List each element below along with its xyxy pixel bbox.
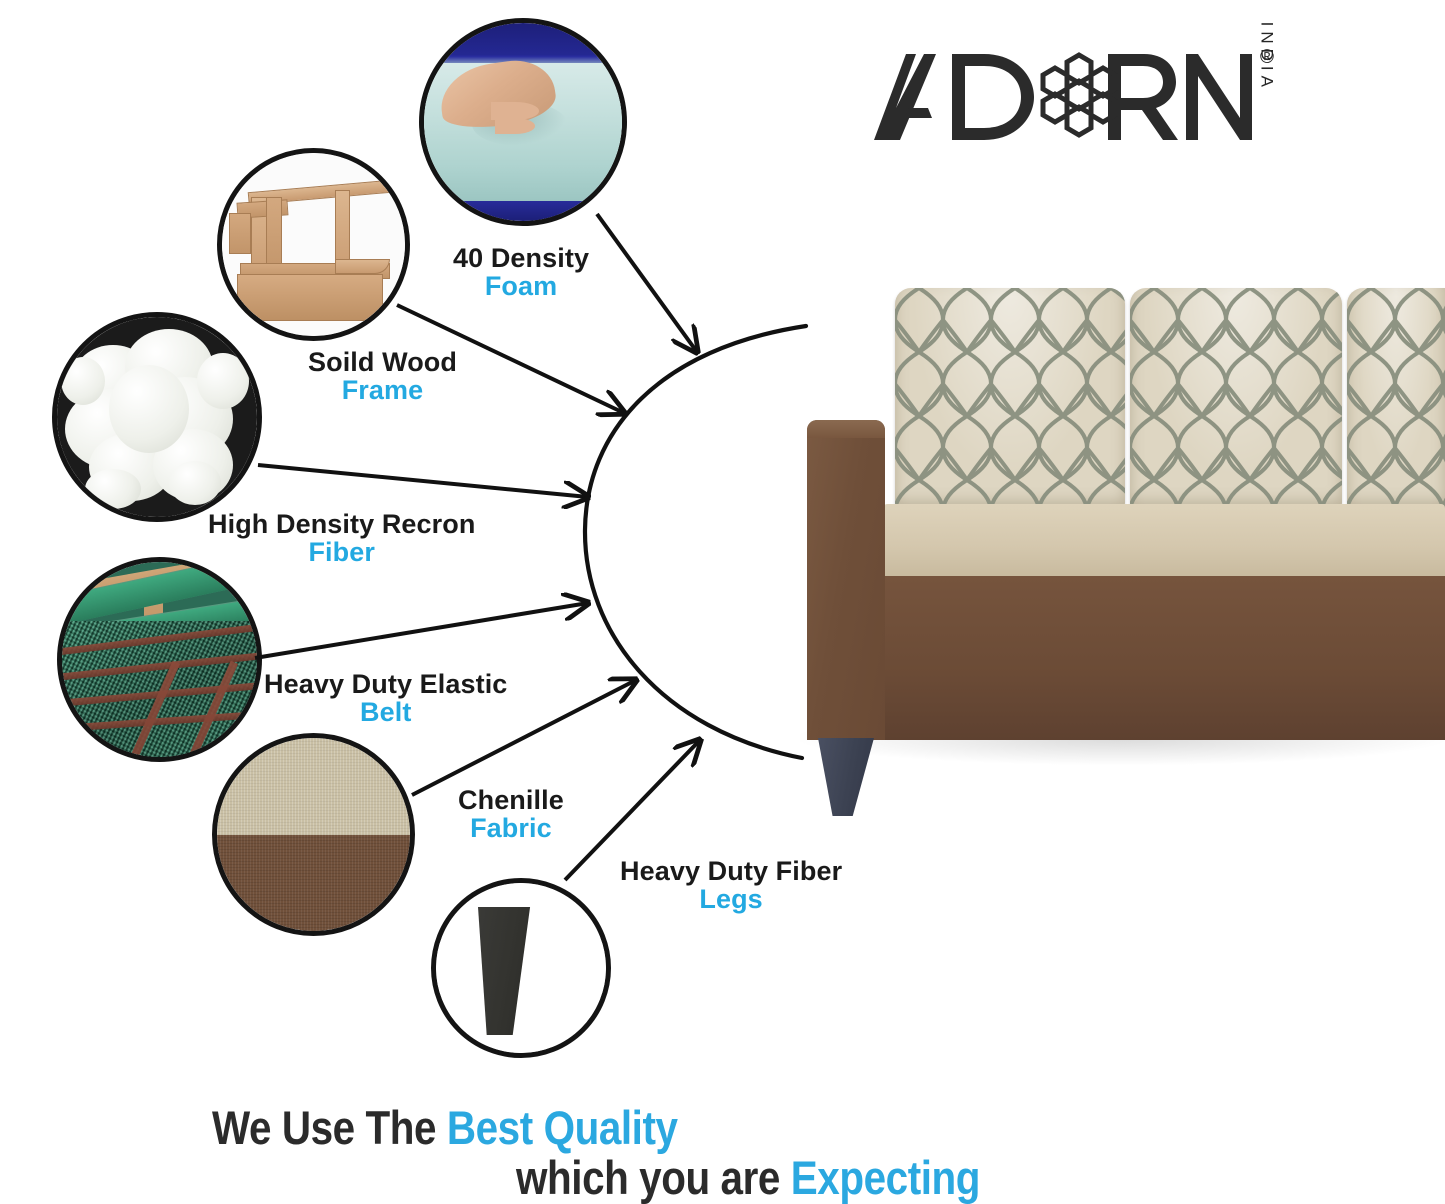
back-cushion — [1347, 288, 1445, 510]
label-foam-line1: 40 Density — [453, 244, 589, 272]
sofa-arm-top — [807, 420, 885, 438]
registered-trademark-icon: ® — [1260, 48, 1274, 67]
trellis-pattern-icon — [1130, 288, 1342, 510]
back-cushion — [1130, 288, 1342, 510]
sofa-base — [807, 576, 1445, 740]
hexagon-honeycomb-icon — [1043, 55, 1115, 135]
infographic-canvas: INDIA ® — [0, 0, 1445, 1204]
label-fabric: Chenille Fabric — [458, 786, 564, 842]
label-fiber-line2: Fiber — [208, 538, 475, 566]
sofa-leg — [818, 738, 874, 816]
label-belt-line2: Belt — [264, 698, 507, 726]
feature-image-recron-fiber — [52, 312, 262, 522]
trellis-pattern-icon — [895, 288, 1125, 510]
label-wood-line1: Soild Wood — [308, 348, 457, 376]
tagline-line2-highlight: Expecting — [791, 1151, 980, 1204]
feature-image-chenille-fabric — [212, 733, 415, 936]
label-belt: Heavy Duty Elastic Belt — [264, 670, 507, 726]
label-foam: 40 Density Foam — [453, 244, 589, 300]
hub-arc — [585, 326, 806, 758]
arrow-foam — [597, 214, 697, 352]
trellis-pattern-icon — [1347, 288, 1445, 510]
label-fiber: High Density Recron Fiber — [208, 510, 475, 566]
label-fabric-line1: Chenille — [458, 786, 564, 814]
sofa-arm — [807, 420, 885, 740]
label-fabric-line2: Fabric — [458, 814, 564, 842]
tagline-line-1: We Use The Best Quality — [212, 1100, 678, 1155]
label-wood: Soild Wood Frame — [308, 348, 457, 404]
adorn-wordmark-icon — [866, 42, 1276, 152]
feature-image-wood-frame — [217, 148, 410, 341]
feature-image-foam — [419, 18, 627, 226]
label-foam-line2: Foam — [453, 272, 589, 300]
brand-logo: INDIA ® — [866, 42, 1276, 152]
feature-image-fiber-leg — [431, 878, 611, 1058]
label-legs-line2: Legs — [620, 885, 842, 913]
feature-image-elastic-belt — [57, 557, 262, 762]
tagline-line1-plain: We Use The — [212, 1101, 447, 1154]
label-legs: Heavy Duty Fiber Legs — [620, 857, 842, 913]
tagline-line2-plain: which you are — [516, 1151, 791, 1204]
label-legs-line1: Heavy Duty Fiber — [620, 857, 842, 885]
label-belt-line1: Heavy Duty Elastic — [264, 670, 507, 698]
arrow-belt — [255, 603, 588, 658]
tagline-line-2: which you are Expecting — [516, 1150, 980, 1204]
arrow-fiber — [258, 465, 588, 497]
label-fiber-line1: High Density Recron — [208, 510, 475, 538]
seat-cushion — [880, 504, 1445, 582]
back-cushion — [895, 288, 1125, 510]
product-sofa-image — [800, 276, 1445, 766]
tagline-line1-highlight: Best Quality — [447, 1101, 678, 1154]
label-wood-line2: Frame — [308, 376, 457, 404]
